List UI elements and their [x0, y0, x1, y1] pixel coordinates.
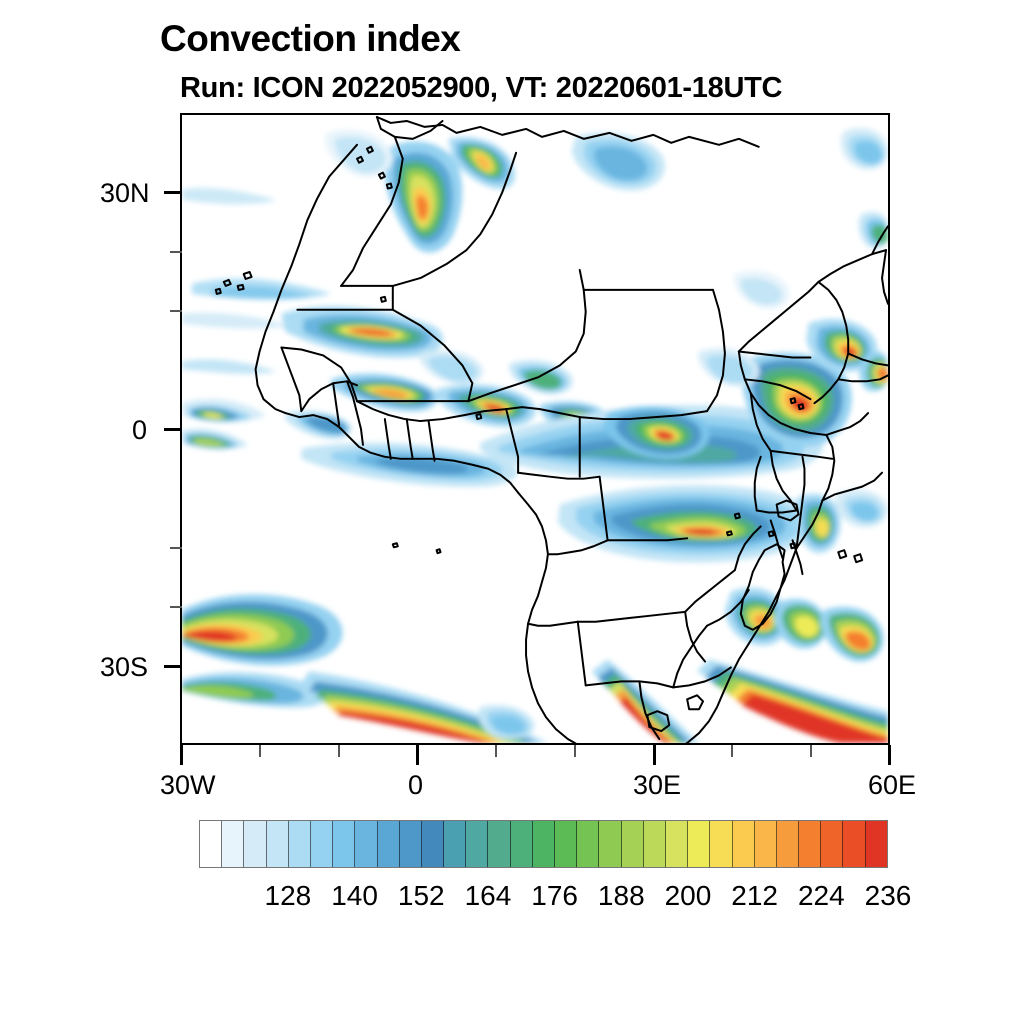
x-tick-60e: [888, 745, 891, 765]
page-title: Convection index: [160, 18, 460, 60]
colorbar-cell-10: [422, 821, 444, 867]
colorbar-label-164: 164: [465, 880, 512, 912]
colorbar-label-200: 200: [665, 880, 712, 912]
colorbar-label-188: 188: [598, 880, 645, 912]
colorbar-label-212: 212: [731, 880, 778, 912]
x-tick-minor-50e: [810, 745, 812, 757]
colorbar-label-140: 140: [331, 880, 378, 912]
colorbar-cell-12: [466, 821, 488, 867]
colorbar: [199, 820, 888, 868]
y-axis-label-30n: 30N: [100, 178, 150, 209]
colorbar-cell-0: [200, 821, 222, 867]
convection-map: [182, 115, 888, 743]
x-axis-label-0: 0: [408, 770, 423, 801]
y-tick-minor-15n: [170, 310, 182, 312]
colorbar-label-176: 176: [531, 880, 578, 912]
y-tick-0: [164, 428, 182, 431]
colorbar-cell-27: [799, 821, 821, 867]
colorbar-cell-20: [644, 821, 666, 867]
colorbar-cell-7: [355, 821, 377, 867]
x-tick-30w: [180, 745, 183, 765]
colorbar-cell-17: [577, 821, 599, 867]
colorbar-cell-1: [222, 821, 244, 867]
y-tick-minor-b: [170, 606, 182, 608]
colorbar-cell-14: [511, 821, 533, 867]
colorbar-cell-16: [555, 821, 577, 867]
x-tick-minor-20w: [259, 745, 261, 757]
colorbar-cell-30: [866, 821, 887, 867]
colorbar-cell-23: [710, 821, 732, 867]
colorbar-cell-9: [400, 821, 422, 867]
colorbar-cell-24: [733, 821, 755, 867]
x-tick-minor-20e: [574, 745, 576, 757]
colorbar-label-128: 128: [265, 880, 312, 912]
y-tick-30s: [164, 665, 182, 668]
y-tick-minor-15s: [170, 547, 182, 549]
colorbar-cell-28: [821, 821, 843, 867]
y-axis-label-30s: 30S: [100, 652, 148, 683]
colorbar-cell-5: [311, 821, 333, 867]
colorbar-cell-15: [533, 821, 555, 867]
colorbar-cell-29: [843, 821, 865, 867]
colorbar-cell-8: [378, 821, 400, 867]
x-axis-label-60e: 60E: [868, 770, 916, 801]
colorbar-label-224: 224: [798, 880, 845, 912]
colorbar-cell-3: [267, 821, 289, 867]
colorbar-cell-18: [599, 821, 621, 867]
x-axis-label-30w: 30W: [160, 770, 216, 801]
colorbar-cell-13: [488, 821, 510, 867]
colorbar-cell-25: [755, 821, 777, 867]
colorbar-cell-26: [777, 821, 799, 867]
y-tick-30n: [164, 191, 182, 194]
x-tick-30e: [653, 745, 656, 765]
x-tick-minor-10w: [338, 745, 340, 757]
colorbar-cell-22: [688, 821, 710, 867]
y-tick-minor-a: [170, 251, 182, 253]
colorbar-cell-11: [444, 821, 466, 867]
colorbar-cell-6: [333, 821, 355, 867]
colorbar-cell-2: [244, 821, 266, 867]
colorbar-label-152: 152: [398, 880, 445, 912]
map-plot-area: [180, 113, 890, 745]
colorbar-cell-4: [289, 821, 311, 867]
x-tick-0: [416, 745, 419, 765]
x-axis-label-30e: 30E: [633, 770, 681, 801]
y-axis-label-0: 0: [132, 415, 147, 446]
colorbar-cell-19: [622, 821, 644, 867]
x-tick-minor-10e: [495, 745, 497, 757]
run-valid-time-subtitle: Run: ICON 2022052900, VT: 20220601-18UTC: [180, 72, 782, 105]
colorbar-label-236: 236: [865, 880, 912, 912]
colorbar-cell-21: [666, 821, 688, 867]
x-tick-minor-40e: [731, 745, 733, 757]
